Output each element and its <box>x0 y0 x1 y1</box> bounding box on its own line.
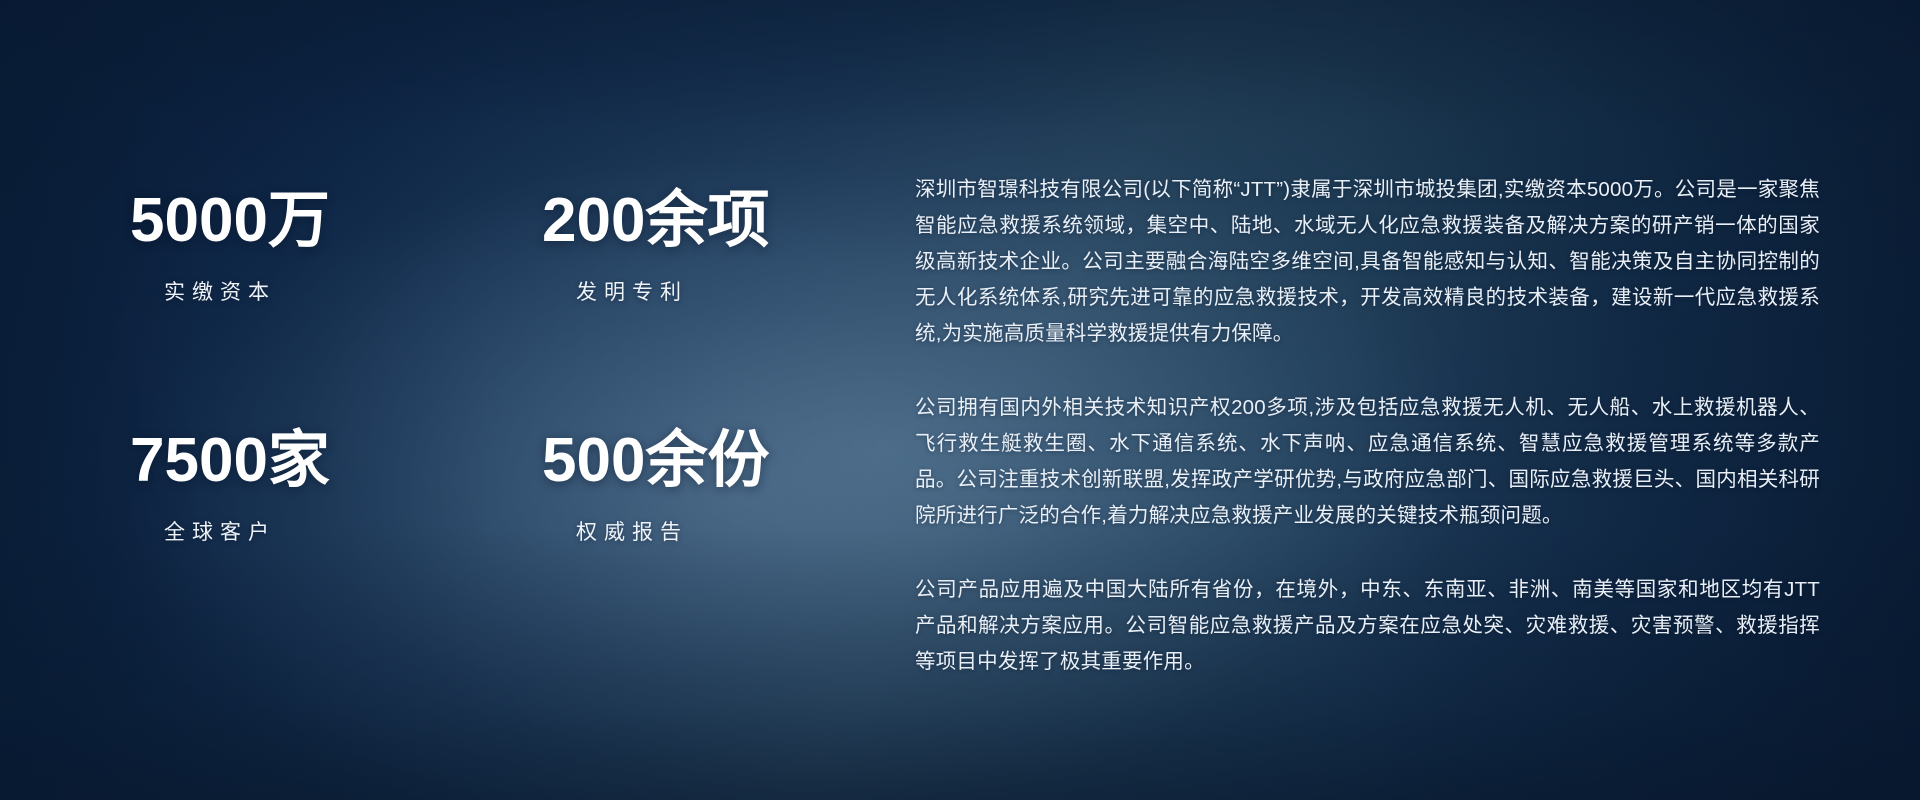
stat-value: 5000万 <box>130 190 520 252</box>
slide-content: 5000万 实缴资本 200余项 发明专利 7500家 全球客户 500余份 权… <box>0 0 1920 800</box>
company-profile-slide: 5000万 实缴资本 200余项 发明专利 7500家 全球客户 500余份 权… <box>0 0 1920 800</box>
stat-global-clients: 7500家 全球客户 <box>130 430 520 670</box>
stat-paid-in-capital: 5000万 实缴资本 <box>130 190 520 430</box>
stat-value: 500余份 <box>520 430 830 492</box>
stat-label: 权威报告 <box>520 516 830 546</box>
stat-label: 全球客户 <box>130 516 520 546</box>
stat-authoritative-reports: 500余份 权威报告 <box>520 430 830 670</box>
stat-value: 7500家 <box>130 430 520 492</box>
description-paragraph-1: 深圳市智璟科技有限公司(以下简称“JTT”)隶属于深圳市城投集团,实缴资本500… <box>915 172 1820 352</box>
stat-invention-patents: 200余项 发明专利 <box>520 190 830 430</box>
stat-label: 实缴资本 <box>130 276 520 306</box>
statistics-grid: 5000万 实缴资本 200余项 发明专利 7500家 全球客户 500余份 权… <box>130 190 830 670</box>
description-paragraph-3: 公司产品应用遍及中国大陆所有省份，在境外，中东、东南亚、非洲、南美等国家和地区均… <box>915 572 1820 680</box>
stat-label: 发明专利 <box>520 276 830 306</box>
description-paragraph-2: 公司拥有国内外相关技术知识产权200多项,涉及包括应急救援无人机、无人船、水上救… <box>915 390 1820 534</box>
company-description: 深圳市智璟科技有限公司(以下简称“JTT”)隶属于深圳市城投集团,实缴资本500… <box>915 172 1820 680</box>
stat-value: 200余项 <box>520 190 830 252</box>
